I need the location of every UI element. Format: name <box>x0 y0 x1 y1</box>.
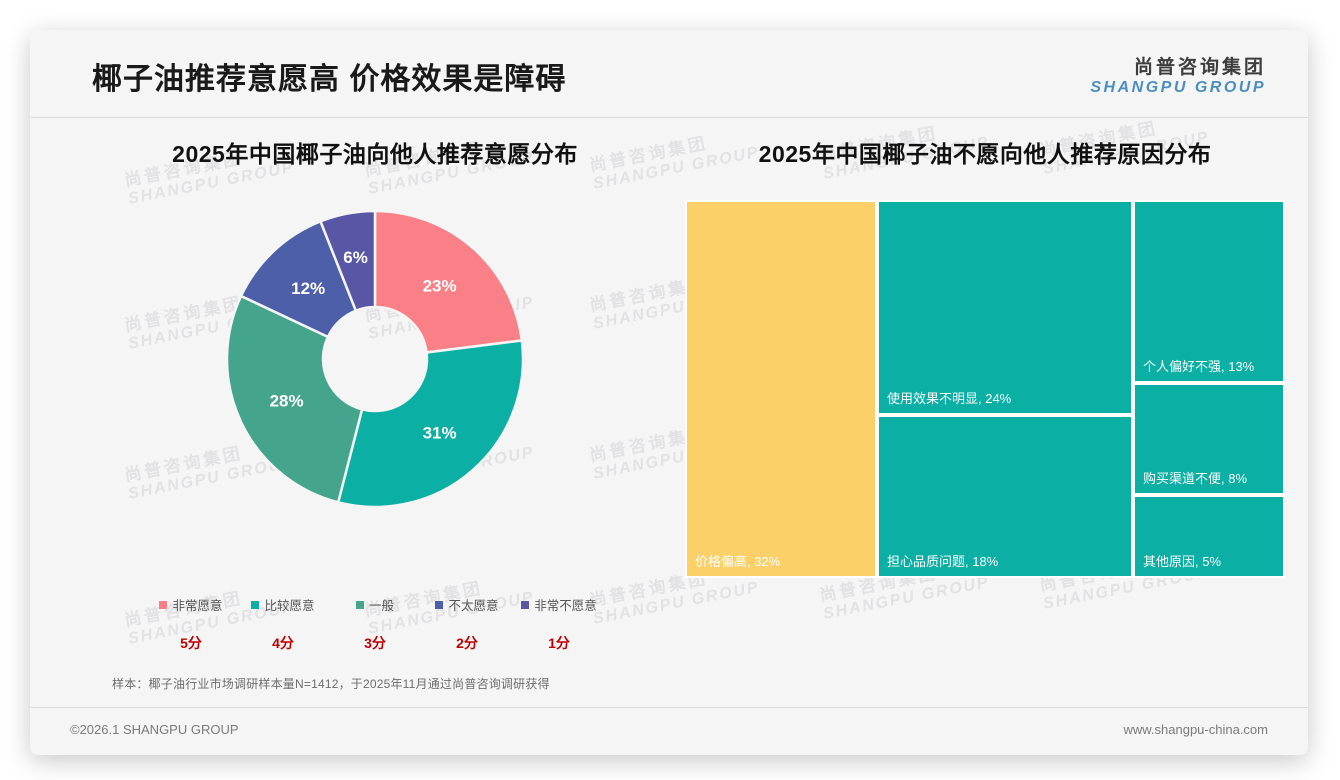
treemap-tile-其他原因[interactable]: 其他原因, 5% <box>1133 495 1285 578</box>
donut-slice-label: 6% <box>343 248 368 267</box>
logo-chinese-text: 尚普咨询集团 <box>1090 58 1266 78</box>
score-row: 5分4分3分2分1分 <box>70 633 680 653</box>
legend-swatch-icon <box>521 601 529 609</box>
page-title: 椰子油推荐意愿高 价格效果是障碍 <box>92 54 566 98</box>
legend-label: 一般 <box>369 595 394 614</box>
slide-canvas: 尚普咨询集团SHANGPU GROUP尚普咨询集团SHANGPU GROUP尚普… <box>30 30 1308 755</box>
sample-footnote: 样本：椰子油行业市场调研样本量N=1412，于2025年11月通过尚普咨询调研获… <box>112 675 550 692</box>
legend-swatch-icon <box>435 601 443 609</box>
legend-item-不太愿意[interactable]: 不太愿意 <box>421 595 513 614</box>
website-link[interactable]: www.shangpu-china.com <box>1123 722 1268 737</box>
copyright-text: ©2026.1 SHANGPU GROUP <box>70 722 239 737</box>
treemap-tile-label: 使用效果不明显, 24% <box>887 388 1011 407</box>
donut-svg: 23%31%28%12%6% <box>225 209 525 509</box>
legend-label: 不太愿意 <box>448 595 498 614</box>
company-logo: 尚普咨询集团 SHANGPU GROUP <box>1090 58 1266 97</box>
slide-footer: ©2026.1 SHANGPU GROUP www.shangpu-china.… <box>30 707 1308 755</box>
score-label-1分: 1分 <box>513 633 605 653</box>
legend-label: 非常不愿意 <box>534 595 597 614</box>
treemap-tile-label: 其他原因, 5% <box>1143 551 1221 570</box>
donut-legend: 非常愿意比较愿意一般不太愿意非常不愿意 <box>70 595 680 614</box>
treemap-tile-使用效果不明显[interactable]: 使用效果不明显, 24% <box>877 200 1133 415</box>
legend-item-比较愿意[interactable]: 比较愿意 <box>237 595 329 614</box>
treemap-tile-价格偏高[interactable]: 价格偏高, 32% <box>685 200 877 578</box>
donut-slice-label: 12% <box>291 279 325 298</box>
donut-slice-label: 28% <box>270 392 304 411</box>
slide-header: 椰子油推荐意愿高 价格效果是障碍 尚普咨询集团 SHANGPU GROUP <box>30 30 1308 118</box>
treemap-tile-label: 购买渠道不便, 8% <box>1143 468 1247 487</box>
legend-swatch-icon <box>159 601 167 609</box>
legend-item-非常愿意[interactable]: 非常愿意 <box>145 595 237 614</box>
right-chart-title: 2025年中国椰子油不愿向他人推荐原因分布 <box>685 135 1285 169</box>
legend-label: 比较愿意 <box>264 595 314 614</box>
treemap-tile-label: 个人偏好不强, 13% <box>1143 356 1254 375</box>
legend-swatch-icon <box>251 601 259 609</box>
donut-slice-label: 31% <box>423 423 457 442</box>
score-label-5分: 5分 <box>145 633 237 653</box>
treemap-tile-购买渠道不便[interactable]: 购买渠道不便, 8% <box>1133 383 1285 495</box>
left-chart-panel: 2025年中国椰子油向他人推荐意愿分布 23%31%28%12%6% 非常愿意比… <box>70 135 680 509</box>
treemap-tile-label: 价格偏高, 32% <box>695 551 780 570</box>
logo-english-text: SHANGPU GROUP <box>1090 80 1266 97</box>
treemap-tile-个人偏好不强[interactable]: 个人偏好不强, 13% <box>1133 200 1285 383</box>
donut-slice-label: 23% <box>423 277 457 296</box>
treemap-tile-担心品质问题[interactable]: 担心品质问题, 18% <box>877 415 1133 578</box>
legend-item-一般[interactable]: 一般 <box>329 595 421 614</box>
left-chart-title: 2025年中国椰子油向他人推荐意愿分布 <box>70 135 680 169</box>
treemap-chart: 价格偏高, 32%使用效果不明显, 24%担心品质问题, 18%个人偏好不强, … <box>685 200 1285 578</box>
legend-label: 非常愿意 <box>172 595 222 614</box>
treemap-tile-label: 担心品质问题, 18% <box>887 551 998 570</box>
score-label-2分: 2分 <box>421 633 513 653</box>
score-label-3分: 3分 <box>329 633 421 653</box>
legend-item-非常不愿意[interactable]: 非常不愿意 <box>513 595 605 614</box>
legend-swatch-icon <box>356 601 364 609</box>
score-label-4分: 4分 <box>237 633 329 653</box>
donut-chart: 23%31%28%12%6% <box>225 209 525 509</box>
right-chart-panel: 2025年中国椰子油不愿向他人推荐原因分布 价格偏高, 32%使用效果不明显, … <box>685 135 1285 578</box>
